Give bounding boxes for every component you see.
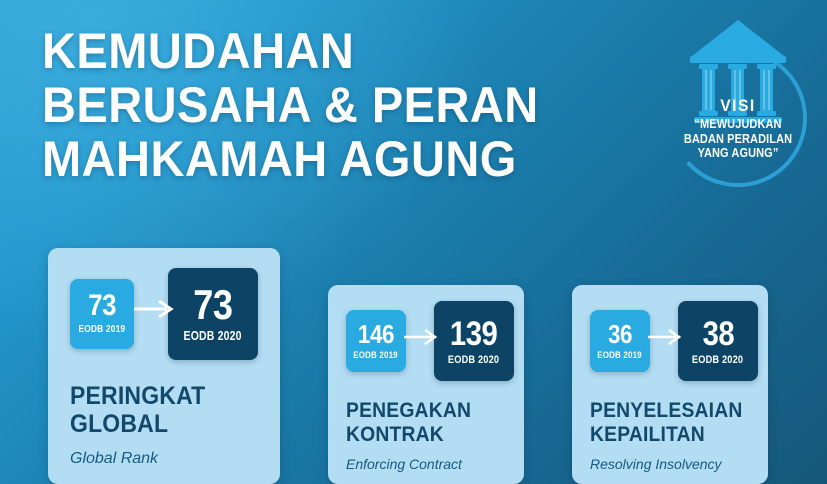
courthouse-icon <box>658 8 818 204</box>
stat-card-resolving-insolvency[interactable]: 36 EODB 2019 38 EODB 2020 PENYELESAIAN K… <box>572 285 768 484</box>
rank-label-2020: EODB 2020 <box>448 354 499 366</box>
page-title: KEMUDAHAN BERUSAHA & PERAN MAHKAMAH AGUN… <box>42 26 652 188</box>
card-title: PENYELESAIAN KEPAILITAN <box>590 399 754 447</box>
headline-line-3: MAHKAMAH AGUNG <box>42 134 615 184</box>
rank-label-2020: EODB 2020 <box>184 329 242 343</box>
card-title: PENEGAKAN KONTRAK <box>346 399 510 447</box>
card-subtitle: Global Rank <box>70 450 280 468</box>
rank-value-2020: 38 <box>702 317 734 351</box>
card-title: PERINGKAT GLOBAL <box>70 382 263 438</box>
card-text-block: PENYELESAIAN KEPAILITAN Resolving Insolv… <box>572 381 768 472</box>
stat-card-global-rank[interactable]: 73 EODB 2019 73 EODB 2020 PERINGKAT GLOB… <box>48 248 280 484</box>
rank-value-2020: 139 <box>450 317 498 351</box>
headline-line-1: KEMUDAHAN <box>42 26 615 76</box>
rank-box-2019: 36 EODB 2019 <box>590 310 650 372</box>
rank-box-2020: 139 EODB 2020 <box>434 301 514 381</box>
card-title-line-2: KEPAILITAN <box>590 423 754 447</box>
rank-value-2019: 146 <box>358 321 394 347</box>
rank-comparison-row: 73 EODB 2019 73 EODB 2020 <box>48 248 280 360</box>
rank-box-2019: 146 EODB 2019 <box>346 310 406 372</box>
card-title-line-1: PENYELESAIAN <box>590 399 754 423</box>
rank-label-2019: EODB 2019 <box>354 350 399 361</box>
stat-card-enforcing-contract[interactable]: 146 EODB 2019 139 EODB 2020 PENEGAKAN KO… <box>328 285 524 484</box>
arrow-right-icon <box>648 329 682 350</box>
rank-box-2020: 73 EODB 2020 <box>168 268 258 360</box>
rank-comparison-row: 36 EODB 2019 38 EODB 2020 <box>572 285 768 381</box>
rank-value-2020: 73 <box>193 284 232 326</box>
rank-box-2019: 73 EODB 2019 <box>70 279 134 349</box>
rank-value-2019: 36 <box>608 321 632 347</box>
arrow-right-icon <box>404 329 438 350</box>
card-title-line-2: GLOBAL <box>70 410 263 438</box>
infographic-poster: KEMUDAHAN BERUSAHA & PERAN MAHKAMAH AGUN… <box>0 0 827 484</box>
rank-comparison-row: 146 EODB 2019 139 EODB 2020 <box>328 285 524 381</box>
card-text-block: PERINGKAT GLOBAL Global Rank <box>48 360 280 468</box>
visi-emblem: VISI “MEWUJUDKAN BADAN PERADILAN YANG AG… <box>658 8 818 204</box>
card-title-line-1: PENEGAKAN <box>346 399 510 423</box>
card-title-line-2: KONTRAK <box>346 423 510 447</box>
card-text-block: PENEGAKAN KONTRAK Enforcing Contract <box>328 381 524 472</box>
card-subtitle: Enforcing Contract <box>346 456 524 472</box>
card-title-line-1: PERINGKAT <box>70 382 263 410</box>
rank-label-2020: EODB 2020 <box>692 354 743 366</box>
headline-line-2: BERUSAHA & PERAN <box>42 80 615 130</box>
card-subtitle: Resolving Insolvency <box>590 456 768 472</box>
rank-label-2019: EODB 2019 <box>79 324 126 335</box>
rank-label-2019: EODB 2019 <box>598 350 643 361</box>
rank-value-2019: 73 <box>88 291 116 321</box>
rank-box-2020: 38 EODB 2020 <box>678 301 758 381</box>
